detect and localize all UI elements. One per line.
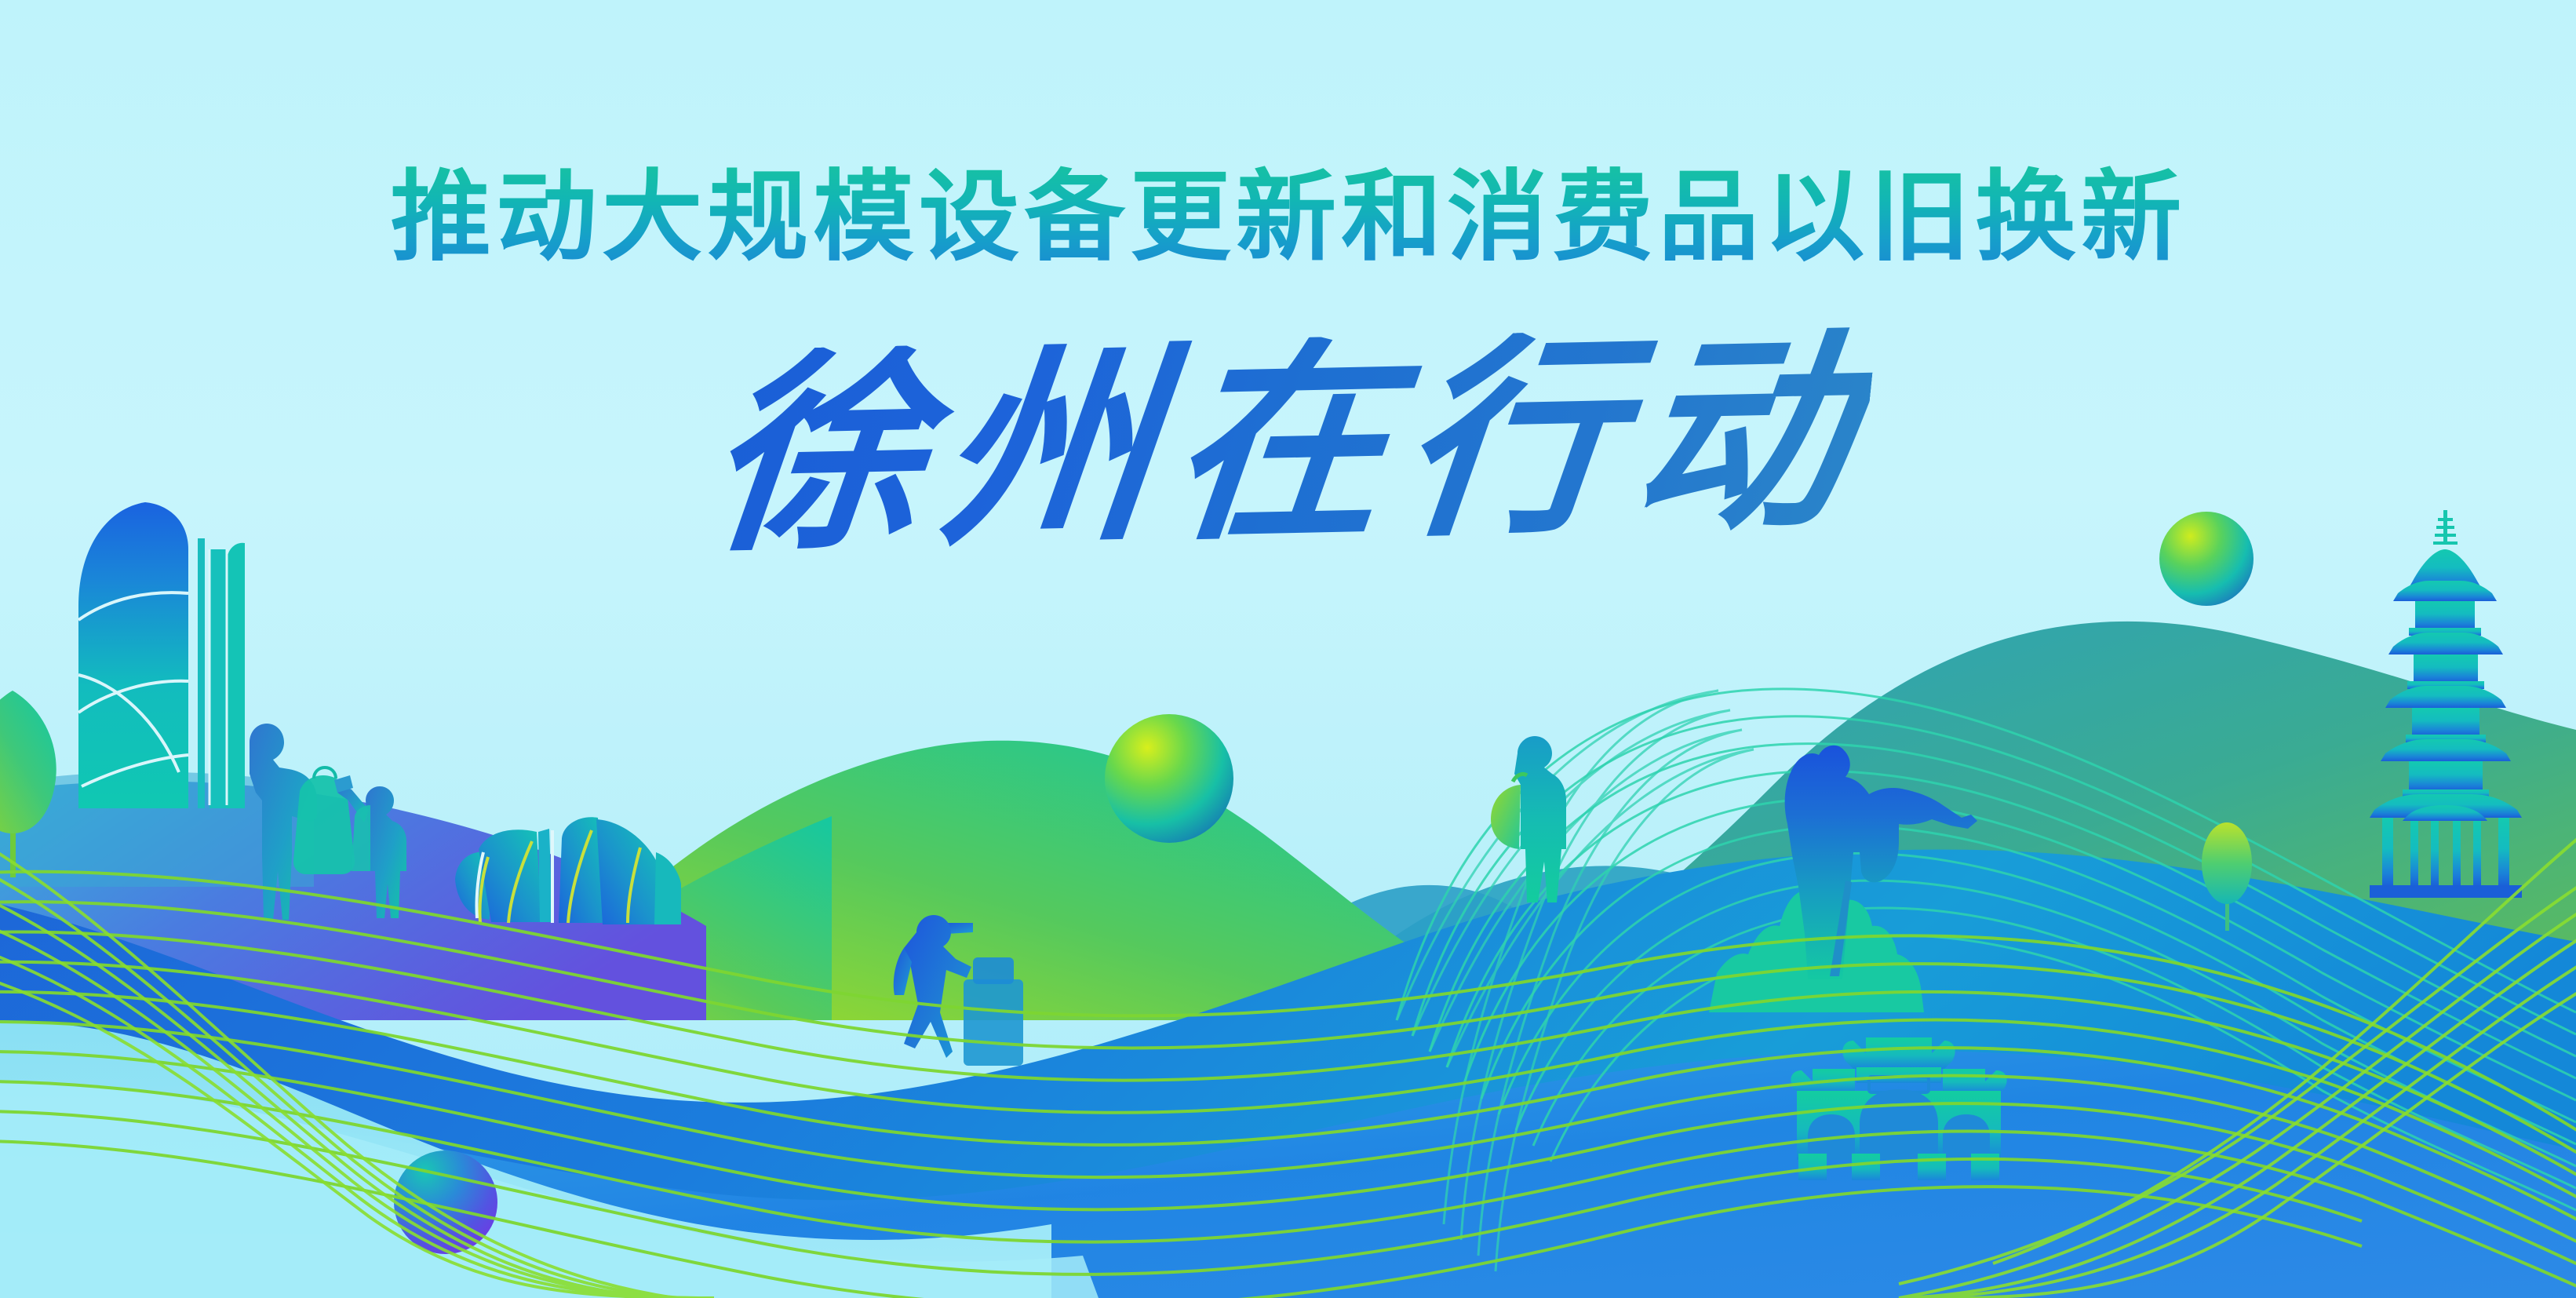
banner-root: 推动大规模设备更新和消费品以旧换新 徐州在行动 [0, 0, 2576, 1298]
flow-lines-green [0, 0, 2576, 1298]
